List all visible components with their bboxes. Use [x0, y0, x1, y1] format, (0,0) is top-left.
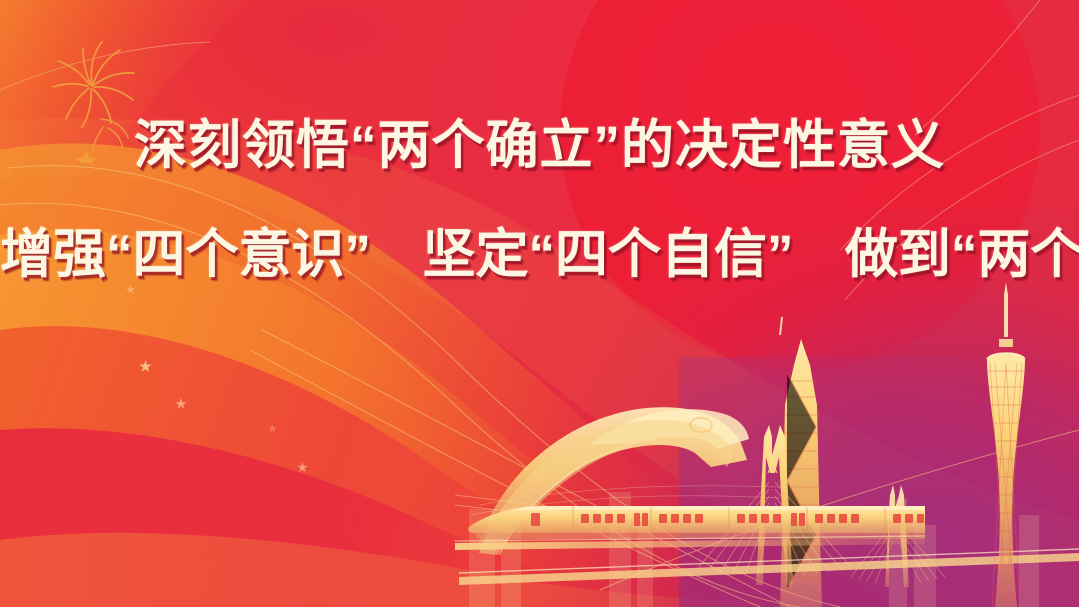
headline-line-1: 深刻领悟“两个确立”的决定性意义 — [0, 118, 1079, 173]
high-speed-train — [455, 481, 925, 571]
headline-line-2-segment-2: 坚定“四个自信” — [422, 227, 793, 282]
headline-line-2: 增强“四个意识” 坚定“四个自信” 做到“两个维护” — [0, 227, 1079, 282]
headline-line-2-segment-1: 增强“四个意识” — [0, 227, 371, 282]
headline-block: 深刻领悟“两个确立”的决定性意义 增强“四个意识” 坚定“四个自信” 做到“两个… — [0, 118, 1079, 282]
poster-canvas: 深刻领悟“两个确立”的决定性意义 增强“四个意识” 坚定“四个自信” 做到“两个… — [0, 0, 1079, 607]
headline-line-2-segment-3: 做到“两个维护” — [845, 227, 1079, 282]
